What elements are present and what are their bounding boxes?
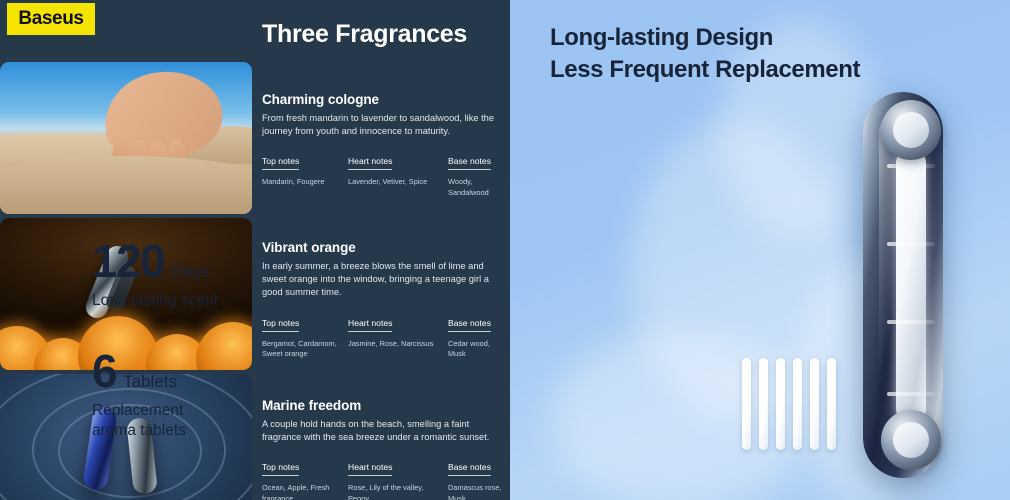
heart-notes-column: Heart notes Rose, Lily of the valley, Pe… [348, 457, 448, 500]
top-notes-value: Ocean, Apple, Fresh fragrance [262, 483, 341, 500]
product-device [855, 92, 951, 478]
heart-notes-value: Lavender, Vetiver, Spice [348, 177, 440, 188]
base-notes-label: Base notes [448, 156, 491, 170]
device-slot [887, 242, 935, 246]
replacement-tablets-illustration [742, 358, 836, 450]
device-slot [887, 392, 935, 396]
base-notes-value: Woody, Sandalwood [448, 177, 505, 198]
tablet-stick [759, 358, 768, 450]
notes-row: Top notes Mandarin, Fougere Heart notes … [262, 151, 510, 198]
fragrance-name: Charming cologne [262, 92, 510, 107]
heart-notes-column: Heart notes Lavender, Vetiver, Spice [348, 151, 448, 198]
top-notes-column: Top notes Ocean, Apple, Fresh fragrance [262, 457, 348, 500]
device-slot [887, 164, 935, 168]
fragrance-description: From fresh mandarin to lavender to sanda… [262, 112, 510, 138]
top-notes-value: Bergamot, Cardamom, Sweet orange [262, 339, 341, 360]
stat-tablets-caption: Replacement aroma tablets [92, 401, 186, 441]
photo-desert-sand [0, 62, 252, 214]
left-content: Three Fragrances Charming cologne From f… [262, 0, 510, 500]
notes-row: Top notes Ocean, Apple, Fresh fragrance … [262, 457, 510, 500]
top-notes-label: Top notes [262, 462, 299, 476]
base-notes-column: Base notes Woody, Sandalwood [448, 151, 510, 198]
base-notes-column: Base notes Damascus rose, Musk [448, 457, 510, 500]
tablet-stick [827, 358, 836, 450]
left-panel: Baseus [0, 0, 510, 500]
device-cap-bottom-button [893, 422, 929, 458]
section-title: Three Fragrances [262, 20, 510, 49]
fragrance-description: In early summer, a breeze blows the smel… [262, 260, 510, 300]
headline-line-2: Less Frequent Replacement [550, 54, 860, 86]
tablet-stick [742, 358, 751, 450]
base-notes-label: Base notes [448, 462, 491, 476]
device-body [863, 92, 943, 478]
glow-sphere [196, 322, 252, 370]
base-notes-label: Base notes [448, 318, 491, 332]
heart-notes-value: Jasmine, Rose, Narcissus [348, 339, 440, 350]
fragrance-card-charming-cologne: Charming cologne From fresh mandarin to … [262, 92, 510, 198]
base-notes-column: Base notes Cedar wood, Musk [448, 313, 510, 360]
stat-days-number: 120 [92, 238, 164, 284]
top-notes-label: Top notes [262, 318, 299, 332]
top-notes-value: Mandarin, Fougere [262, 177, 341, 188]
heart-notes-label: Heart notes [348, 156, 392, 170]
brand-name: Baseus [18, 8, 83, 30]
stat-tablets-number: 6 [92, 348, 116, 394]
device-aroma-stick [896, 148, 926, 424]
base-notes-value: Damascus rose, Musk [448, 483, 505, 500]
sand-dune-front [0, 156, 252, 214]
fragrance-name: Vibrant orange [262, 240, 510, 255]
top-notes-column: Top notes Mandarin, Fougere [262, 151, 348, 198]
top-notes-label: Top notes [262, 156, 299, 170]
baseus-logo: Baseus [7, 3, 95, 35]
notes-row: Top notes Bergamot, Cardamom, Sweet oran… [262, 313, 510, 360]
stat-days: 120Days Long-lasting scent [92, 238, 218, 311]
headline-line-1: Long-lasting Design [550, 22, 860, 54]
heart-notes-value: Rose, Lily of the valley, Peony [348, 483, 440, 500]
product-infographic: Baseus [0, 0, 1010, 500]
device-cap-top-button [893, 112, 929, 148]
tablet-stick [810, 358, 819, 450]
headline: Long-lasting Design Less Frequent Replac… [550, 22, 860, 86]
fragrance-card-vibrant-orange: Vibrant orange In early summer, a breeze… [262, 240, 510, 360]
stat-tablets-unit: Tablets [123, 372, 177, 392]
fragrance-card-marine-freedom: Marine freedom A couple hold hands on th… [262, 398, 510, 500]
base-notes-value: Cedar wood, Musk [448, 339, 505, 360]
tablet-stick [793, 358, 802, 450]
fragrance-name: Marine freedom [262, 398, 510, 413]
heart-notes-column: Heart notes Jasmine, Rose, Narcissus [348, 313, 448, 360]
heart-notes-label: Heart notes [348, 318, 392, 332]
stat-tablets: 6Tablets Replacement aroma tablets [92, 348, 186, 441]
stat-days-unit: Days [171, 262, 210, 282]
device-cap-top [881, 100, 941, 160]
fragrance-description: A couple hold hands on the beach, smelli… [262, 418, 510, 444]
top-notes-column: Top notes Bergamot, Cardamom, Sweet oran… [262, 313, 348, 360]
heart-notes-label: Heart notes [348, 462, 392, 476]
device-slot [887, 320, 935, 324]
device-cap-bottom [881, 410, 941, 470]
stat-days-caption: Long-lasting scent [92, 291, 218, 311]
tablet-stick [776, 358, 785, 450]
